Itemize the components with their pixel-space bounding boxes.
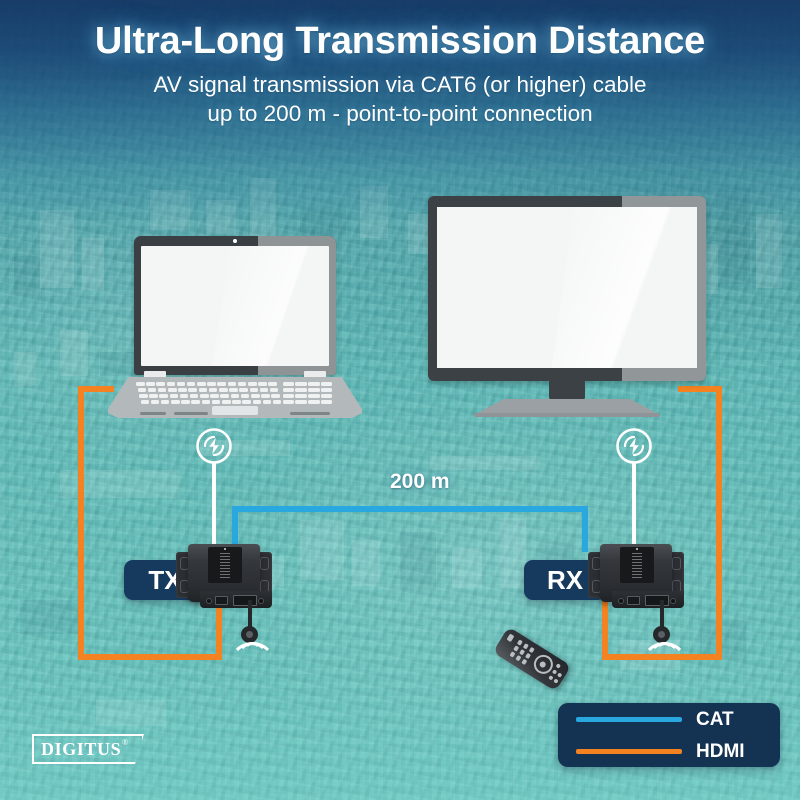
laptop-key [258,382,267,386]
laptop-foot-right [290,412,330,415]
page-subtitle: AV signal transmission via CAT6 (or high… [0,71,800,129]
laptop-key [167,382,176,386]
rx-chassis [600,544,672,602]
laptop-key [239,388,248,392]
legend-item-cat: CAT [576,710,764,729]
cat-cable-span [232,506,588,512]
laptop-key [228,382,237,386]
laptop-key [271,394,280,398]
tx-ir-receiver [230,600,290,662]
laptop-key [250,388,259,392]
rx-usb-port [627,596,640,605]
laptop-key [158,388,167,392]
laptop-screen-glare [204,246,329,366]
monitor-screen-glare [544,207,697,368]
tx-top-panel [208,547,242,583]
laptop-key [159,394,168,398]
laptop-key [295,388,306,392]
laptop-key [168,388,177,392]
tx-silkscreen-label [220,552,230,578]
laptop-key [308,382,319,386]
laptop-key [220,394,229,398]
laptop-key [187,382,196,386]
ir-cord [248,600,252,628]
subtitle-line-2: up to 200 m - point-to-point connection [207,101,592,126]
laptop-key [248,382,257,386]
laptop-key [217,382,226,386]
rx-top-panel [620,547,654,583]
laptop-key [210,394,219,398]
laptop-key [251,394,260,398]
ir-wave-3 [229,642,276,689]
laptop-key [308,388,319,392]
monitor-bezel [428,196,706,381]
monitor-neck [549,379,585,401]
remote-power-button [506,634,514,643]
laptop-key [253,400,262,404]
cable-legend: CAT HDMI [558,703,780,767]
logo-wordmark: DIGITUS [41,739,121,760]
laptop-key [200,394,209,398]
laptop-key [321,400,332,404]
laptop-key [178,388,187,392]
tx-ir-port [206,598,212,604]
digitus-logo: DIGITUS ® [32,734,144,764]
laptop-key [321,388,332,392]
laptop-key [197,382,206,386]
source-laptop [108,236,362,418]
laptop-key [295,394,306,398]
laptop-key [181,400,190,404]
subtitle-line-1: AV signal transmission via CAT6 (or high… [153,72,646,97]
laptop-key [273,400,282,404]
infographic-canvas: Ultra-Long Transmission Distance AV sign… [0,0,800,800]
laptop-key [202,400,211,404]
laptop-key [141,400,150,404]
laptop-key [238,382,247,386]
distance-label: 200 m [390,470,450,494]
tx-led [224,548,226,550]
laptop-key [219,388,228,392]
hdmi-cable-right-vertical [716,386,722,660]
laptop-key [138,388,147,392]
laptop-key [295,400,306,404]
laptop-key [180,394,189,398]
tx-usb-port [215,596,228,605]
laptop-key [188,388,197,392]
hdmi-cable-left-vertical [78,386,84,660]
laptop-key [283,388,294,392]
laptop-key [222,400,231,404]
laptop-key [148,388,157,392]
laptop-key [321,382,332,386]
laptop-key [241,394,250,398]
rx-led [636,548,638,550]
laptop-webcam [233,239,237,243]
laptop-key [283,394,294,398]
laptop-key [261,394,270,398]
laptop-key [199,388,208,392]
laptop-key [229,388,238,392]
laptop-key [232,400,241,404]
laptop-key [177,382,186,386]
laptop-key [295,382,306,386]
power-supply-icon-tx [195,427,233,465]
laptop-key [321,394,332,398]
laptop-key [270,388,279,392]
header: Ultra-Long Transmission Distance AV sign… [0,22,800,128]
laptop-key [136,382,145,386]
logo-trademark-icon: ® [122,738,128,747]
ir-wave-3 [641,642,688,689]
laptop-key [190,394,199,398]
laptop-lid [134,236,336,375]
lightning-bolt-icon [615,427,653,465]
laptop-key [308,400,319,404]
laptop-foot-left [140,412,166,415]
laptop-key [283,382,294,386]
laptop-key [161,400,170,404]
laptop-key [146,382,155,386]
ir-eye [653,626,670,643]
laptop-key [263,400,272,404]
laptop-keyboard [136,381,334,405]
page-title: Ultra-Long Transmission Distance [0,22,800,62]
laptop-screen [141,246,329,366]
rx-ir-receiver [642,600,702,662]
laptop-key [231,394,240,398]
ir-cord [660,600,664,628]
laptop-touchpad [212,406,258,415]
laptop-key [170,394,179,398]
legend-item-hdmi: HDMI [576,742,764,761]
laptop-key [207,382,216,386]
hdmi-cable-left-bottom [78,654,222,660]
rx-silkscreen-label [632,552,642,578]
laptop-key [151,400,160,404]
laptop-key [283,400,294,404]
monitor-stand-base [474,413,660,417]
legend-swatch-hdmi [576,749,682,754]
laptop-key [268,382,277,386]
legend-label-cat: CAT [696,710,734,729]
laptop-foot-mid [174,412,208,415]
legend-swatch-cat [576,717,682,722]
laptop-key [260,388,269,392]
laptop-key [171,400,180,404]
rx-ir-port [618,598,624,604]
monitor-screen [437,207,697,368]
laptop-key [209,388,218,392]
laptop-key [242,400,251,404]
power-supply-icon-rx [615,427,653,465]
laptop-key [156,382,165,386]
display-monitor [428,196,706,418]
laptop-key [149,394,158,398]
legend-label-hdmi: HDMI [696,742,745,761]
ir-eye [241,626,258,643]
laptop-key [191,400,200,404]
laptop-key [308,394,319,398]
laptop-key [139,394,148,398]
laptop-key [212,400,221,404]
lightning-bolt-icon [195,427,233,465]
tx-chassis [188,544,260,602]
